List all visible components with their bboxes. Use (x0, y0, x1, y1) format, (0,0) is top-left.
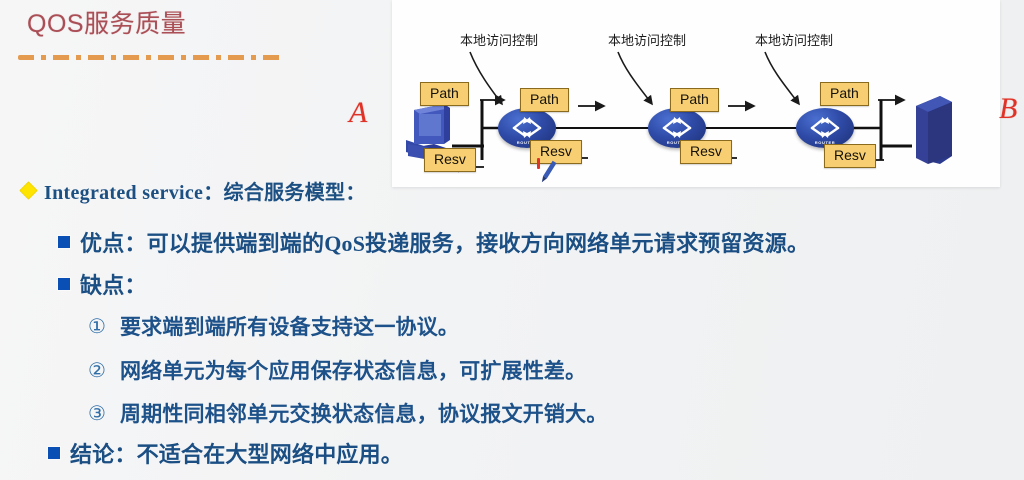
square-bullet-icon (58, 278, 70, 290)
annotation-local-access-control-3: 本地访问控制 (755, 30, 833, 49)
resv-label-3: Resv (680, 140, 732, 164)
bullet-integrated-service-label: Integrated service：综合服务模型： (44, 176, 366, 205)
ink-mark-a: A (349, 96, 367, 130)
list-item: ② 网络单元为每个应用保存状态信息，可扩展性差。 (88, 355, 586, 385)
square-bullet-icon (58, 236, 70, 248)
list-item: ③ 周期性同相邻单元交换状态信息，协议报文开销大。 (88, 398, 608, 428)
resv-label-1: Resv (424, 148, 476, 172)
bullet-pros: 优点：可以提供端到端的QoS投递服务，接收方向网络单元请求预留资源。 (58, 226, 809, 258)
square-bullet-icon (48, 447, 60, 459)
list-item-label: 周期性同相邻单元交换状态信息，协议报文开销大。 (120, 398, 608, 428)
list-item-number: ② (88, 358, 106, 383)
path-label-3: Path (670, 88, 719, 112)
pen-cursor-icon (534, 158, 558, 186)
bullet-cons-label: 缺点： (80, 268, 147, 300)
list-item: ① 要求端到端所有设备支持这一协议。 (88, 311, 459, 341)
page-title: QOS服务质量 (27, 8, 186, 40)
list-item-number: ① (88, 314, 106, 339)
title-divider (18, 55, 286, 60)
bullet-integrated-service: Integrated service：综合服务模型： (22, 176, 366, 205)
list-item-label: 要求端到端所有设备支持这一协议。 (120, 311, 459, 341)
path-label-4: Path (820, 82, 869, 106)
bullet-conclusion: 结论：不适合在大型网络中应用。 (48, 437, 403, 469)
list-item-number: ③ (88, 401, 106, 426)
annotation-local-access-control-2: 本地访问控制 (608, 30, 686, 49)
list-item-label: 网络单元为每个应用保存状态信息，可扩展性差。 (120, 355, 586, 385)
bullet-conclusion-label: 结论：不适合在大型网络中应用。 (70, 437, 403, 469)
bullet-pros-label: 优点：可以提供端到端的QoS投递服务，接收方向网络单元请求预留资源。 (80, 226, 809, 258)
router-node-3: ROUTER (796, 108, 854, 148)
endpoint-server-icon (910, 90, 954, 168)
annotation-local-access-control-1: 本地访问控制 (460, 30, 538, 49)
resv-label-4: Resv (824, 144, 876, 168)
bullet-cons: 缺点： (58, 268, 147, 300)
ink-mark-b: B (999, 92, 1017, 126)
path-label-1: Path (420, 82, 469, 106)
diamond-bullet-icon (19, 181, 37, 199)
network-diagram-panel: 本地访问控制 本地访问控制 本地访问控制 (392, 0, 1000, 187)
path-label-2: Path (520, 88, 569, 112)
